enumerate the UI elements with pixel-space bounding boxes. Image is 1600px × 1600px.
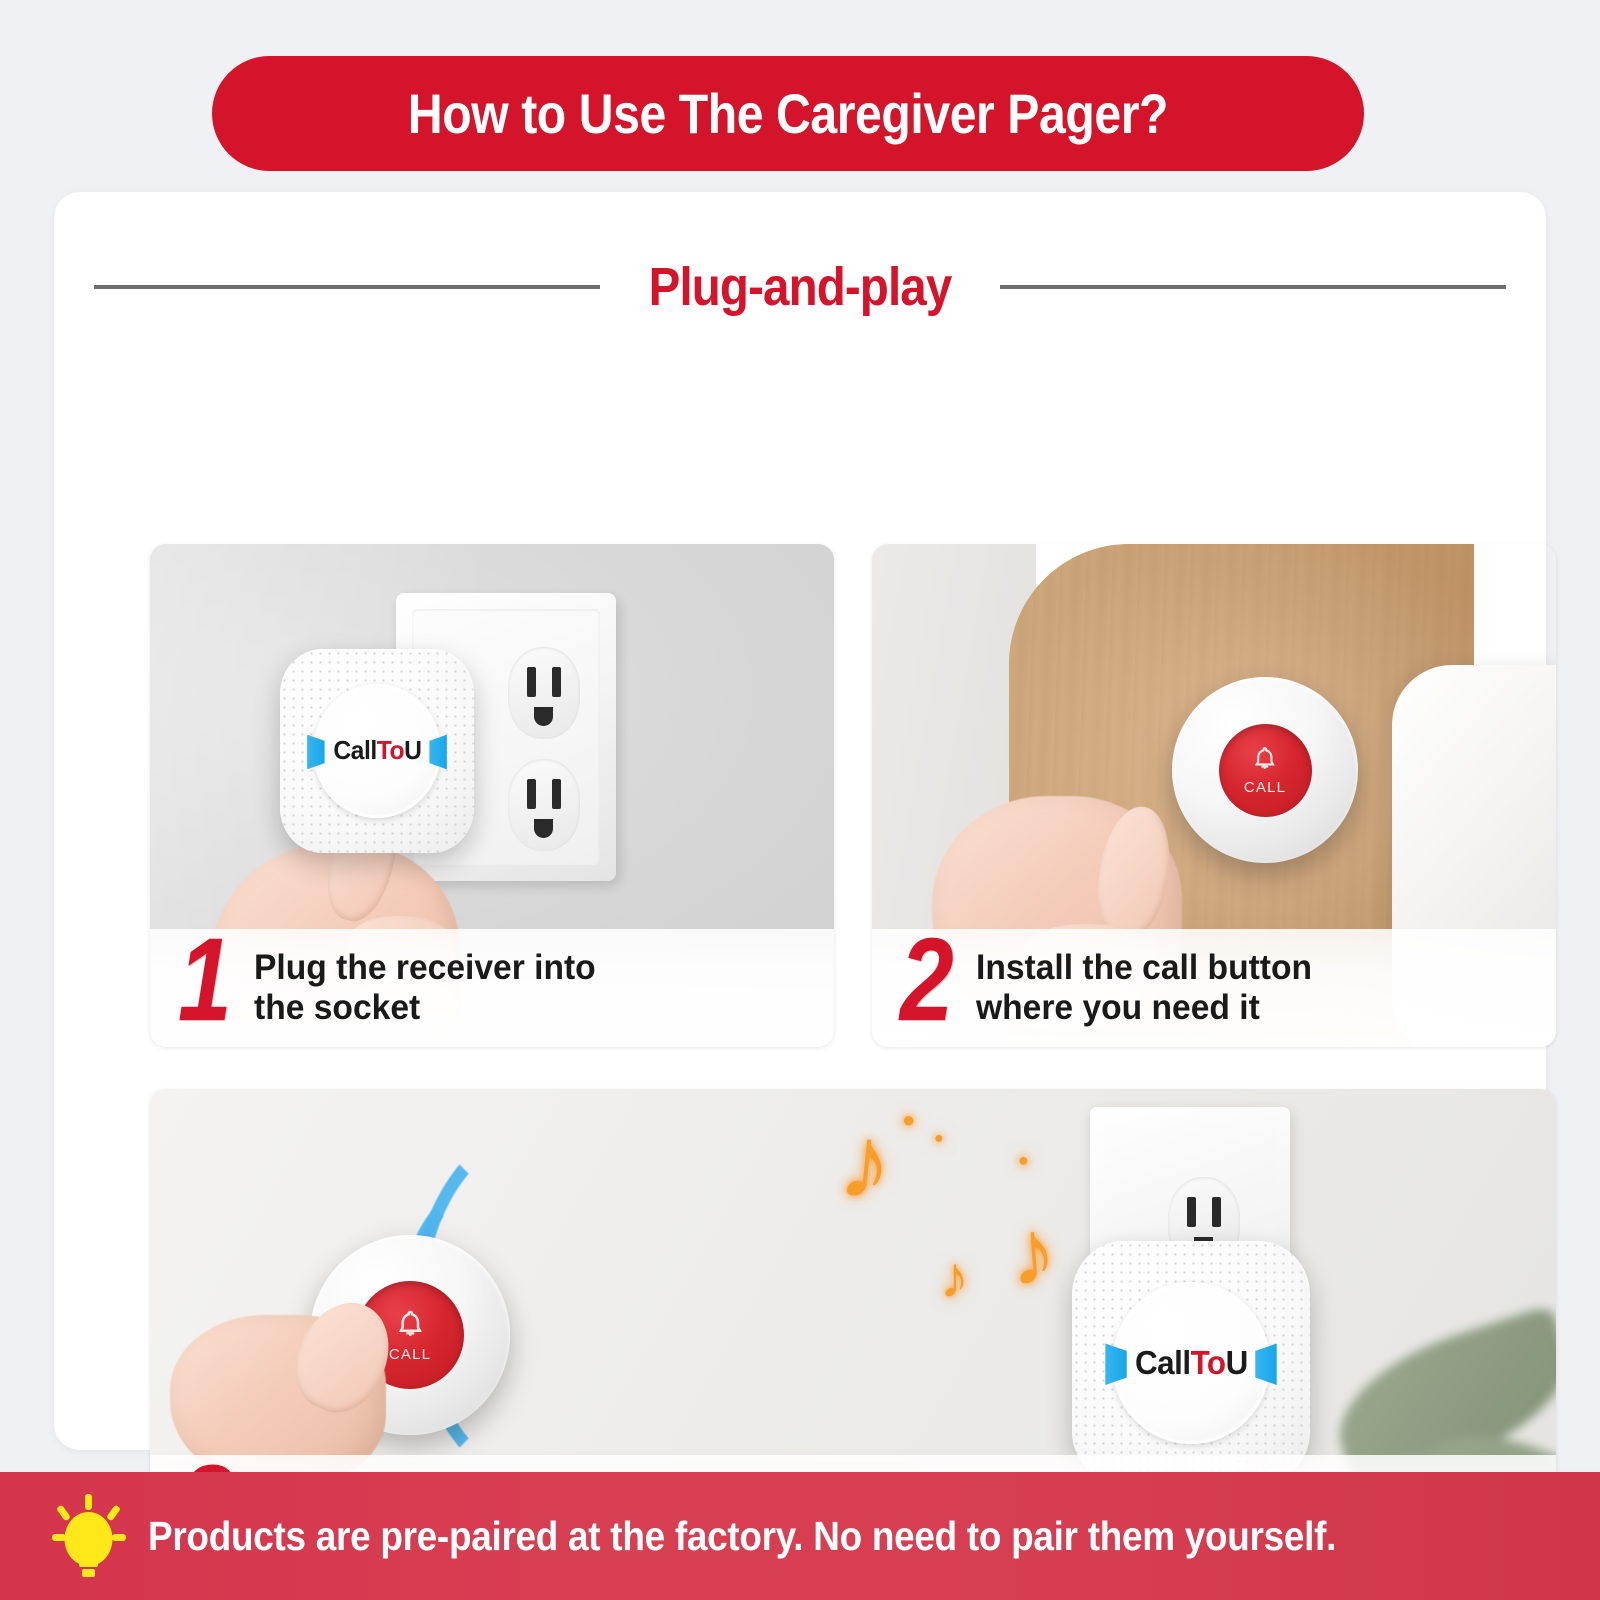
music-note-sparkle: ● bbox=[934, 1131, 944, 1147]
step-panel-2: CALL 2 Install the call button where you… bbox=[872, 544, 1556, 1047]
receiver-face: CallToU bbox=[1112, 1282, 1269, 1443]
socket-slot-right bbox=[1212, 1197, 1221, 1227]
call-button-device[interactable]: CALL bbox=[1172, 677, 1358, 863]
step-caption-text: Plug the receiver into the socket bbox=[254, 948, 596, 1029]
socket-slot-left bbox=[527, 779, 536, 809]
brand-logo: CallToU bbox=[333, 735, 421, 766]
caption-line-2: the socket bbox=[254, 988, 420, 1027]
call-button-label: CALL bbox=[389, 1346, 431, 1363]
infographic-page: How to Use The Caregiver Pager? Plug-and… bbox=[0, 0, 1600, 1600]
step-number: 1 bbox=[178, 934, 232, 1026]
call-button-face[interactable]: CALL bbox=[1219, 724, 1312, 817]
step-caption-text: Install the call button where you need i… bbox=[976, 948, 1312, 1029]
socket-slot-right bbox=[552, 667, 561, 697]
socket-ground bbox=[534, 707, 553, 726]
socket-bottom bbox=[508, 759, 580, 851]
bell-icon bbox=[392, 1307, 429, 1344]
socket-ground bbox=[534, 819, 553, 838]
step-2-caption: 2 Install the call button where you need… bbox=[872, 929, 1556, 1047]
receiver-device: CallToU bbox=[1072, 1241, 1310, 1485]
music-note-sparkle: ● bbox=[1018, 1151, 1029, 1169]
rule-left bbox=[94, 285, 600, 289]
title-banner: How to Use The Caregiver Pager? bbox=[212, 56, 1364, 171]
step-1-caption: 1 Plug the receiver into the socket bbox=[150, 929, 834, 1047]
socket-slot-left bbox=[527, 667, 536, 697]
section-title: Plug-and-play bbox=[649, 256, 952, 318]
music-note-sparkle: ● bbox=[902, 1109, 915, 1131]
socket-slot-left bbox=[1187, 1197, 1196, 1227]
caption-line-1: Install the call button bbox=[976, 948, 1312, 987]
rule-right bbox=[1000, 285, 1506, 289]
caption-line-1: Plug the receiver into bbox=[254, 948, 596, 987]
section-header: Plug-and-play bbox=[94, 244, 1506, 330]
lightbulb-icon bbox=[52, 1494, 126, 1578]
page-title: How to Use The Caregiver Pager? bbox=[408, 81, 1168, 146]
receiver-device: CallToU bbox=[280, 649, 474, 853]
socket-top bbox=[508, 647, 580, 739]
step-number: 2 bbox=[900, 934, 954, 1026]
footer-text: Products are pre-paired at the factory. … bbox=[148, 1513, 1336, 1560]
step-panel-1: CallToU 1 Plug the receiver into the soc… bbox=[150, 544, 834, 1047]
bell-icon bbox=[1249, 744, 1281, 776]
receiver-face: CallToU bbox=[313, 684, 441, 819]
footer-bar: Products are pre-paired at the factory. … bbox=[0, 1472, 1600, 1600]
brand-logo: CallToU bbox=[1135, 1344, 1248, 1382]
socket-slot-right bbox=[552, 779, 561, 809]
content-card: Plug-and-play bbox=[54, 192, 1546, 1450]
music-note: ♪ bbox=[1007, 1206, 1059, 1301]
music-note: ♪ bbox=[835, 1109, 898, 1218]
call-button-label: CALL bbox=[1244, 779, 1286, 796]
caption-line-2: where you need it bbox=[976, 988, 1260, 1027]
music-note: ♪ bbox=[940, 1249, 969, 1307]
